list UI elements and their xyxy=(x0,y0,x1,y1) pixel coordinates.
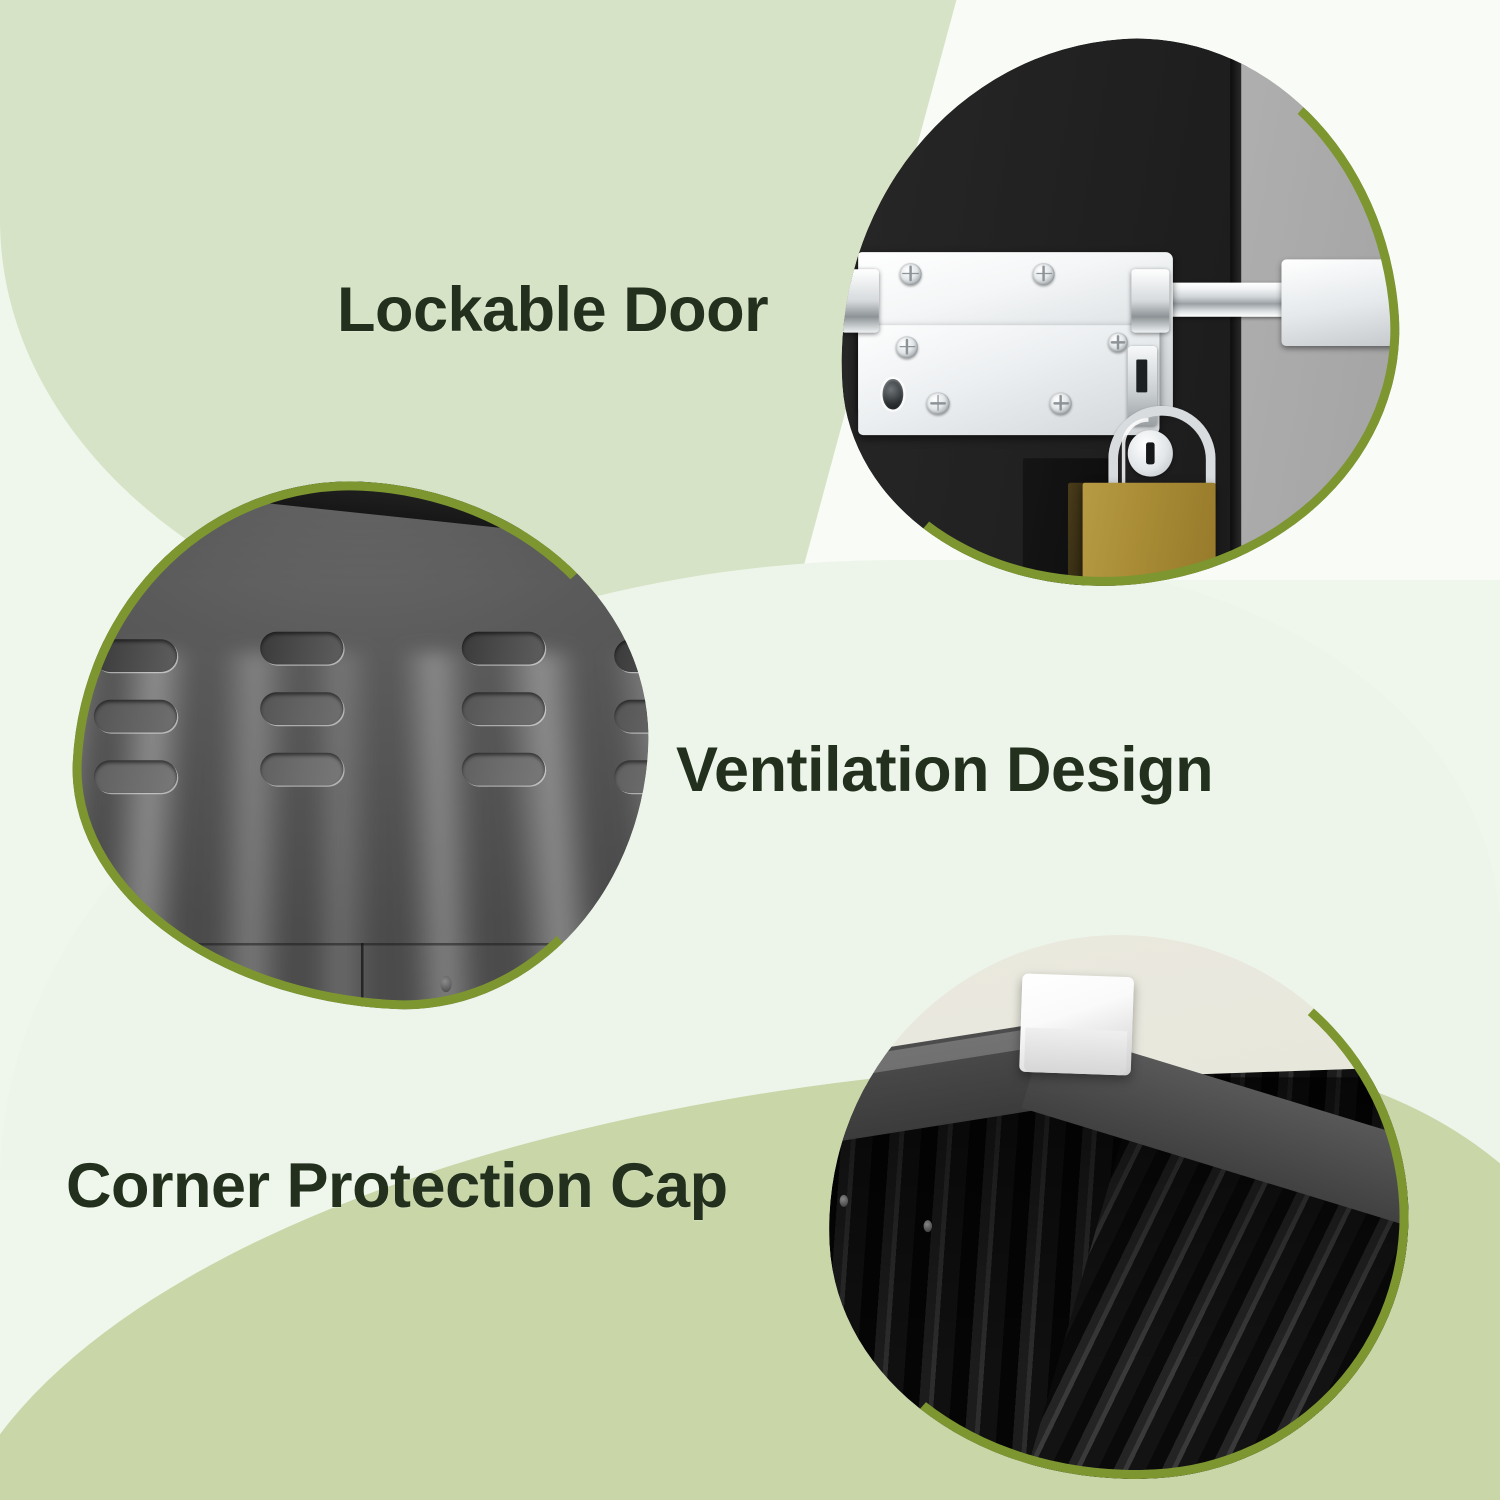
feature-image-corner-protection-cap xyxy=(814,920,1422,1495)
latch-screw-3 xyxy=(896,336,919,358)
vent-slot xyxy=(93,639,176,672)
brass-padlock xyxy=(1077,406,1227,599)
vent-slot xyxy=(93,760,176,793)
vent-column-1 xyxy=(93,639,176,820)
latch-mounting-hole xyxy=(882,379,902,410)
vent-slot xyxy=(260,693,343,726)
feature-label-lockable-door: Lockable Door xyxy=(337,274,768,346)
bolt-collar-2 xyxy=(1132,269,1170,332)
white-corner-protection-cap xyxy=(1019,973,1134,1075)
vent-slot xyxy=(260,632,343,665)
ventilation-scene xyxy=(61,467,662,1021)
feature-image-ventilation-design xyxy=(61,467,662,1021)
hasp-slot xyxy=(1136,359,1147,392)
bolt-collar-1 xyxy=(841,269,879,332)
feature-label-ventilation-design: Ventilation Design xyxy=(676,734,1213,806)
corner-cap-front-face xyxy=(1023,1027,1127,1075)
infographic-canvas: Lockable Door xyxy=(0,0,1500,1500)
latch-screw-1 xyxy=(899,263,922,285)
vent-column-2 xyxy=(260,632,343,813)
vent-slot xyxy=(260,753,343,786)
vent-slot xyxy=(462,632,545,665)
panel-rivet-3 xyxy=(621,976,632,992)
bolt-keeper-bracket xyxy=(1282,259,1398,345)
siding-rivet-1 xyxy=(923,1221,931,1233)
corner-cap-scene xyxy=(814,920,1422,1495)
latch-screw-4 xyxy=(927,392,950,414)
vent-slot xyxy=(462,693,545,726)
siding-rivet-2 xyxy=(840,1194,848,1206)
feature-label-corner-protection-cap: Corner Protection Cap xyxy=(66,1150,728,1222)
latch-screw-2 xyxy=(1033,263,1056,285)
lockable-door-scene xyxy=(820,21,1417,604)
vent-slot xyxy=(462,753,545,786)
vent-slot xyxy=(93,699,176,732)
vent-column-3 xyxy=(462,632,545,813)
feature-image-lockable-door xyxy=(820,21,1417,604)
